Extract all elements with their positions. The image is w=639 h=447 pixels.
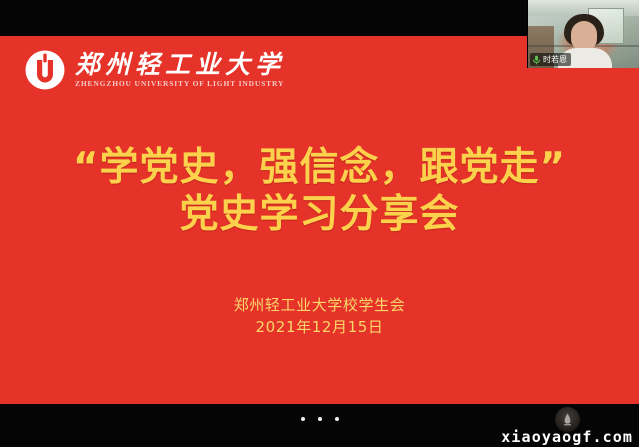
university-name-en: ZHENGZHOU UNIVERSITY OF LIGHT INDUSTRY bbox=[75, 80, 285, 88]
university-logo-wordmark: 郑州轻工业大学 ZHENGZHOU UNIVERSITY OF LIGHT IN… bbox=[75, 53, 285, 88]
video-speaker-face bbox=[571, 21, 597, 51]
watermark-badge-icon bbox=[555, 407, 580, 432]
university-name-cn: 郑州轻工业大学 bbox=[75, 53, 285, 79]
headline-line-1: “学党史，强信念，跟党走” bbox=[0, 144, 639, 191]
credit-date: 2021年12月15日 bbox=[0, 316, 639, 338]
site-watermark: xiaoyaogf.com bbox=[501, 407, 633, 445]
zhengzhou-university-emblem-icon bbox=[24, 49, 66, 91]
microphone-icon bbox=[532, 55, 541, 65]
slide-credits: 郑州轻工业大学校学生会 2021年12月15日 bbox=[0, 294, 639, 338]
watermark-text: xiaoyaogf.com bbox=[501, 430, 633, 445]
credit-organizer: 郑州轻工业大学校学生会 bbox=[0, 294, 639, 316]
page-dot[interactable] bbox=[335, 417, 339, 421]
participant-name-badge: 时若恩 bbox=[530, 53, 571, 66]
headline-line-2: 党史学习分享会 bbox=[0, 191, 639, 238]
screen-capture-stage: 郑州轻工业大学 ZHENGZHOU UNIVERSITY OF LIGHT IN… bbox=[0, 0, 639, 447]
participant-name-text: 时若恩 bbox=[543, 56, 567, 64]
slide-headline: “学党史，强信念，跟党走” 党史学习分享会 bbox=[0, 144, 639, 238]
page-dot[interactable] bbox=[318, 417, 322, 421]
page-dot[interactable] bbox=[301, 417, 305, 421]
university-logo-lockup: 郑州轻工业大学 ZHENGZHOU UNIVERSITY OF LIGHT IN… bbox=[24, 49, 285, 91]
participant-video-tile[interactable]: 时若恩 bbox=[527, 0, 639, 68]
presentation-slide: 郑州轻工业大学 ZHENGZHOU UNIVERSITY OF LIGHT IN… bbox=[0, 36, 639, 404]
